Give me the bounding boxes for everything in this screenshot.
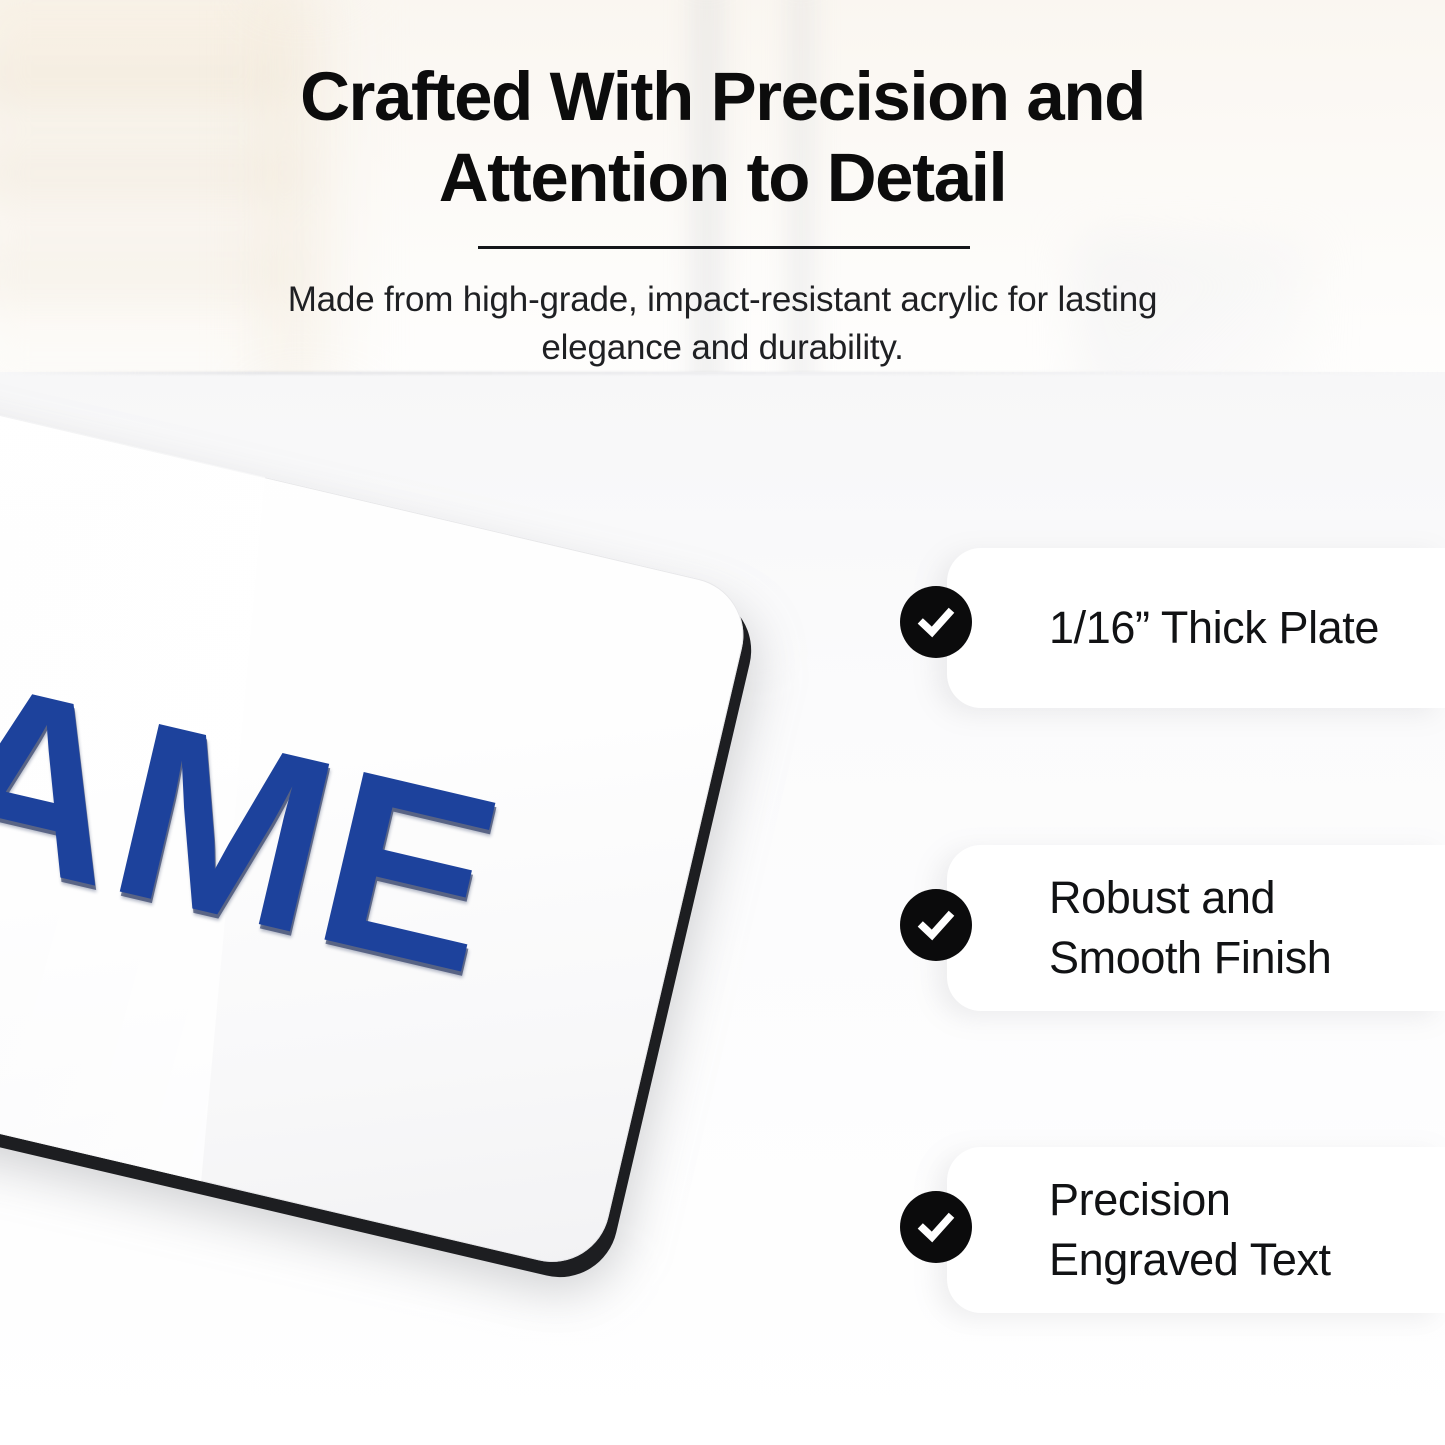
check-icon xyxy=(900,1191,972,1263)
feature-card-2: Robust and Smooth Finish xyxy=(947,845,1445,1011)
check-icon xyxy=(900,586,972,658)
page-subtitle: Made from high-grade, impact-resistant a… xyxy=(265,276,1180,373)
feature-label-3: Precision Engraved Text xyxy=(947,1170,1445,1291)
feature-label-1: 1/16” Thick Plate xyxy=(947,598,1397,658)
feature-card-3: Precision Engraved Text xyxy=(947,1147,1445,1313)
feature-label-2: Robust and Smooth Finish xyxy=(947,868,1445,989)
feature-card-1: 1/16” Thick Plate xyxy=(947,548,1445,708)
product-feature-banner: Crafted With Precision and Attention to … xyxy=(0,0,1445,1445)
page-title: Crafted With Precision and Attention to … xyxy=(205,56,1240,219)
check-icon xyxy=(900,889,972,961)
title-divider xyxy=(478,246,970,249)
